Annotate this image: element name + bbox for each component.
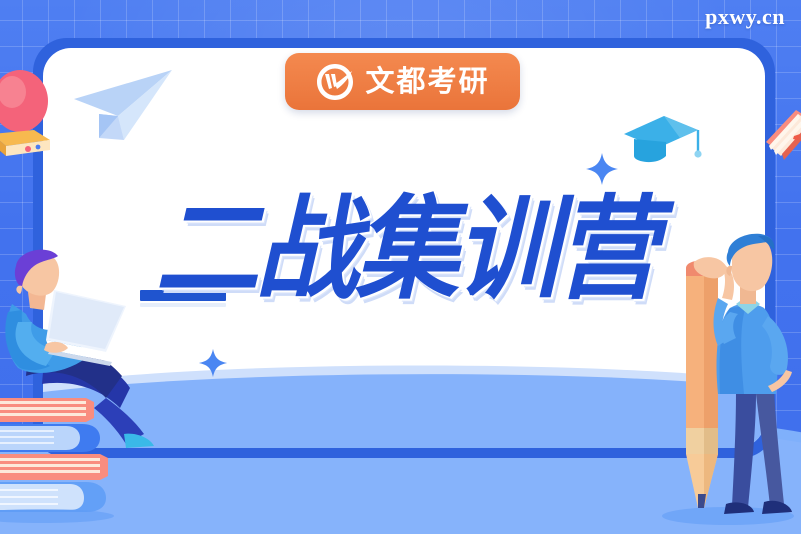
card-bottom-wave <box>43 358 765 448</box>
brand-badge[interactable]: 文都考研 <box>285 53 520 110</box>
poster-title: 二战集训营 <box>135 186 675 311</box>
poster-root: 文都考研 二战集训营 pxwy.cn <box>0 0 801 534</box>
wendu-circle-logo-icon <box>315 62 355 102</box>
watermark: pxwy.cn <box>705 4 785 30</box>
poster-title-text: 二战集训营 <box>155 192 655 304</box>
brand-badge-label: 文都考研 <box>365 67 489 96</box>
